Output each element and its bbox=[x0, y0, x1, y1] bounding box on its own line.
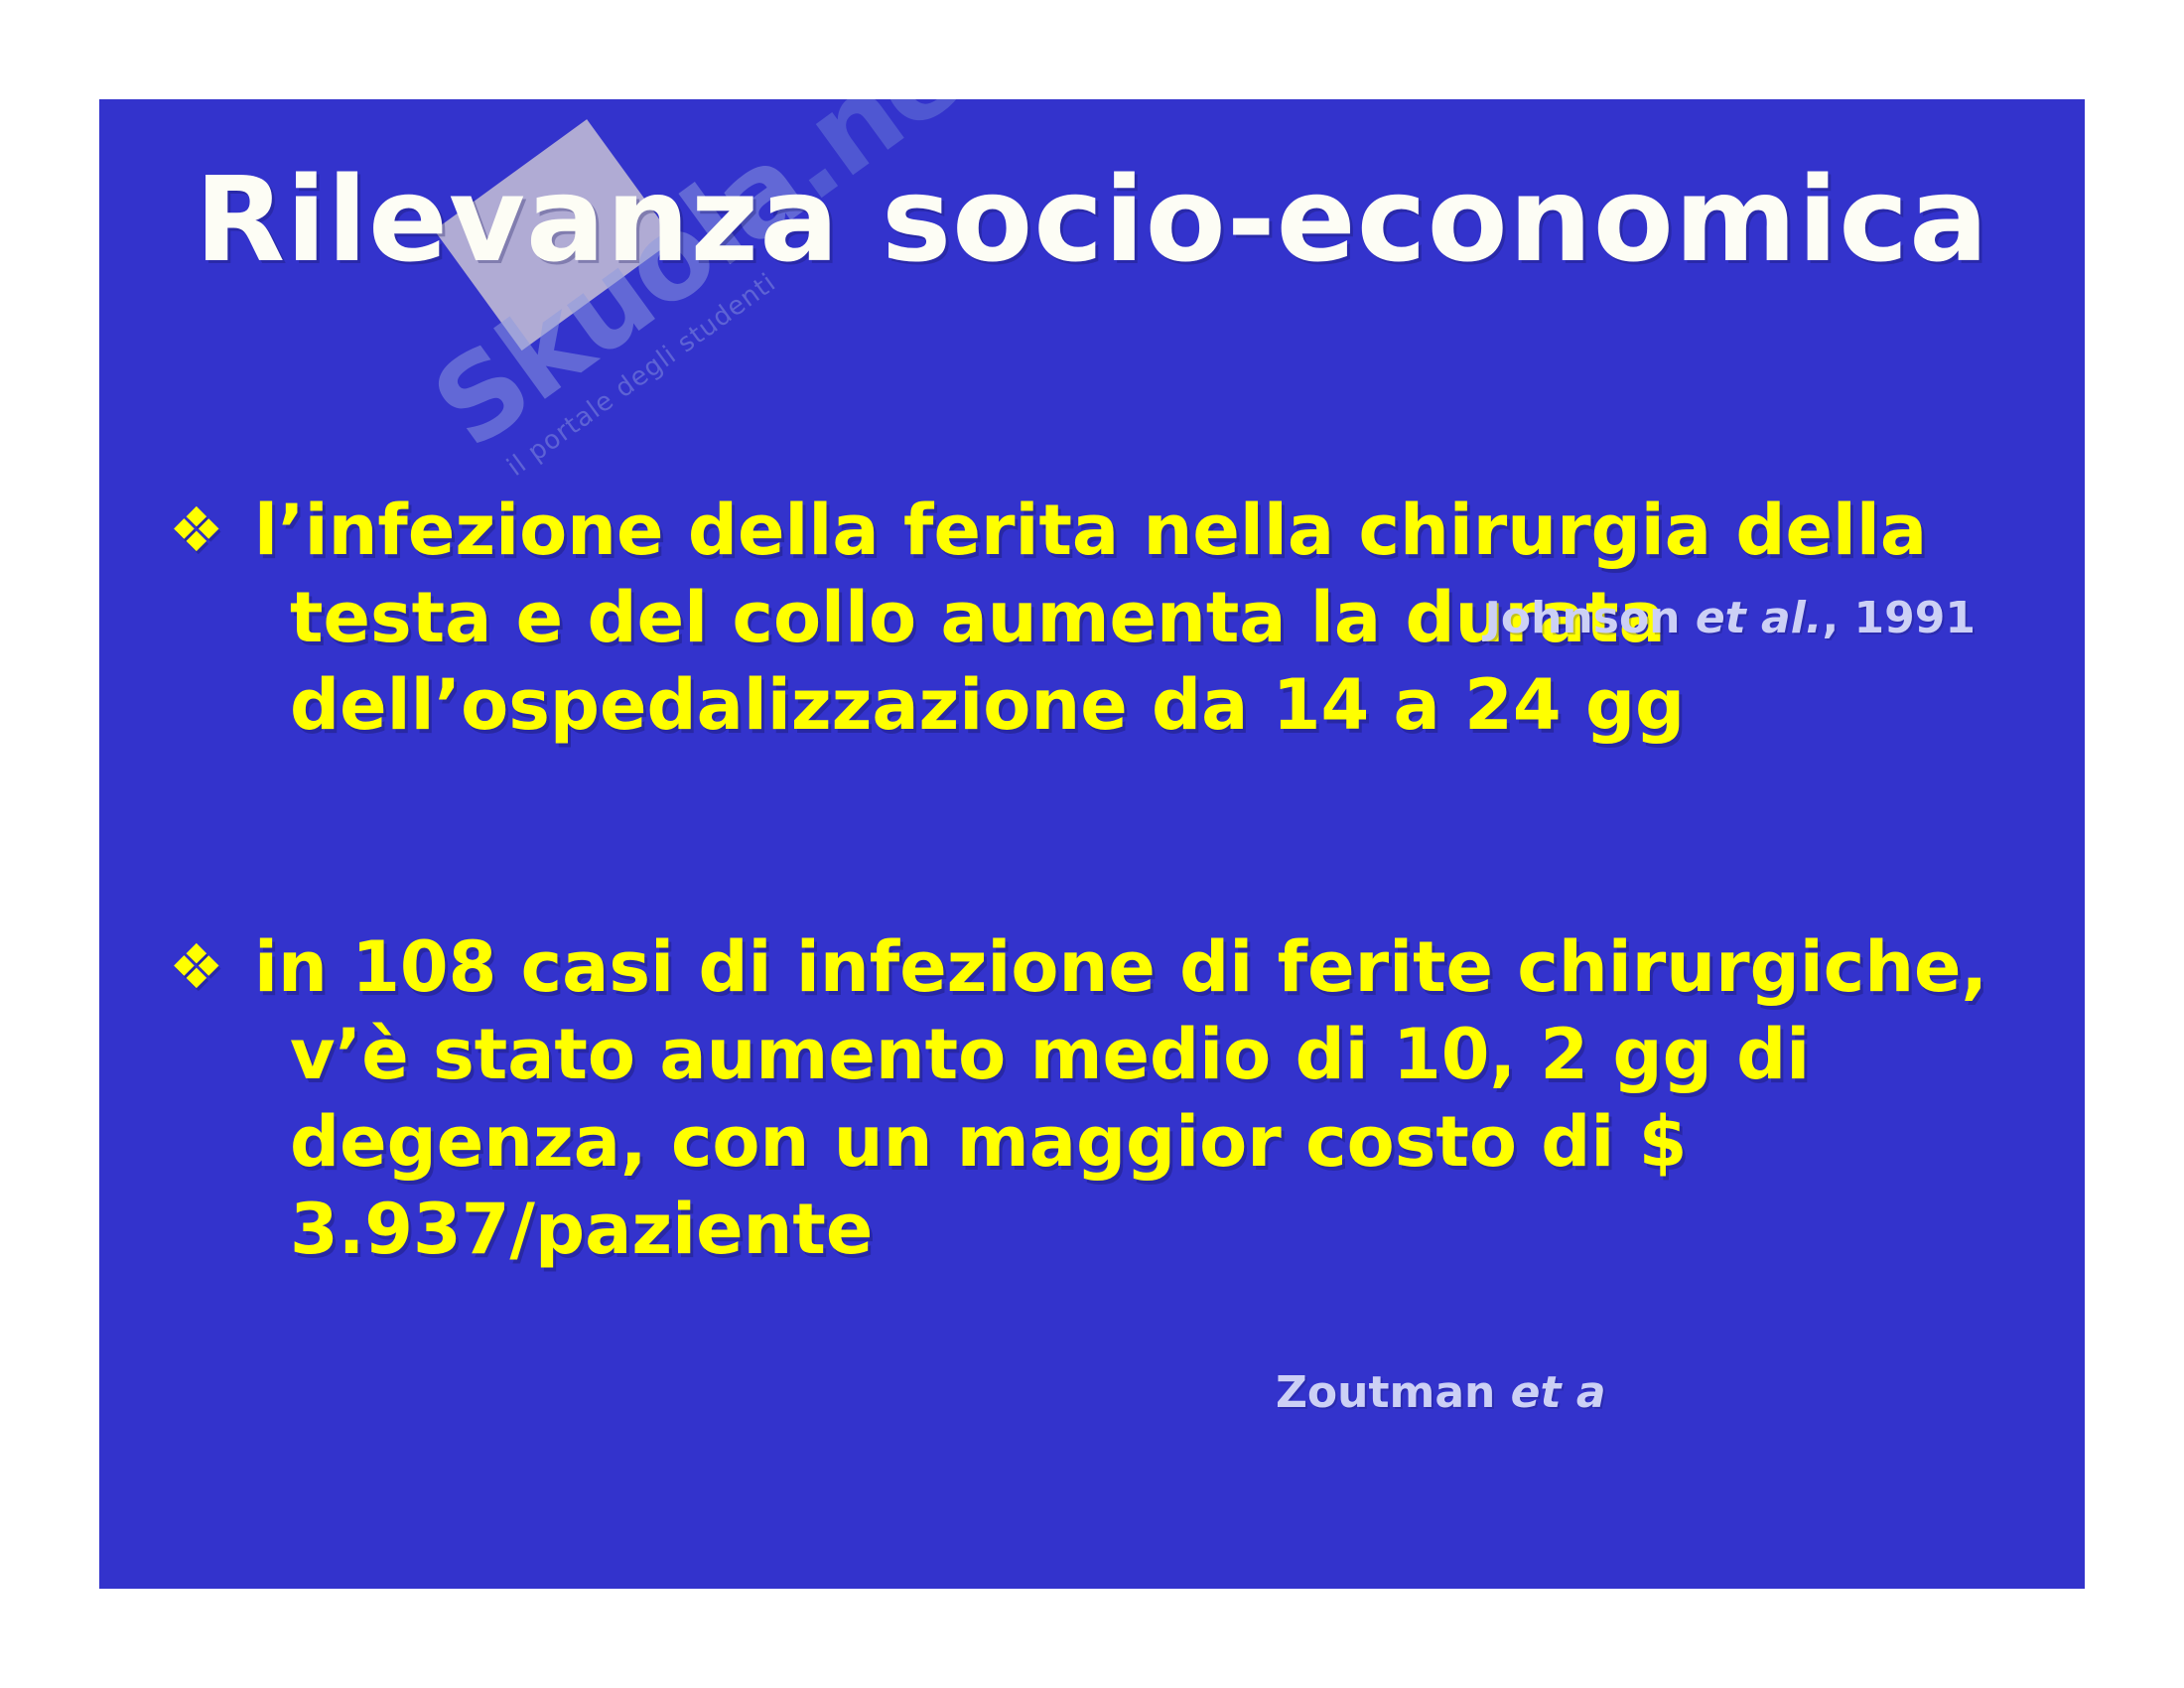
citation-zoutman: Zoutman et a bbox=[1276, 1365, 1606, 1421]
citation-etal: et a bbox=[1511, 1367, 1606, 1418]
slide-root: Skuola.net il portale degli studenti Ril… bbox=[0, 0, 2184, 1688]
page-title: Rilevanza socio-economica bbox=[99, 159, 2085, 282]
bullet-line: in 108 casi di infezione di ferite chiru… bbox=[254, 923, 2055, 1011]
citation-year: , 1991 bbox=[1823, 593, 1977, 643]
bullet-line: v’è stato aumento medio di 10, 2 gg di bbox=[254, 1011, 2055, 1098]
diamond-bullet-icon: ❖ bbox=[169, 487, 254, 574]
citation-johnson: Johnson et al., 1991 bbox=[1485, 591, 1977, 646]
bullet-line: l’infezione della ferita nella chirurgia… bbox=[254, 487, 2035, 574]
slide-content: Rilevanza socio-economica ❖ l’infezione … bbox=[99, 99, 2085, 1589]
diamond-bullet-icon: ❖ bbox=[169, 923, 254, 1011]
citation-author: Zoutman bbox=[1276, 1367, 1511, 1418]
bullet-line: degenza, con un maggior costo di $ bbox=[254, 1098, 2055, 1186]
bullet-text: in 108 casi di infezione di ferite chiru… bbox=[254, 923, 2055, 1273]
bullet-line: dell’ospedalizzazione da 14 a 24 gg bbox=[254, 661, 2035, 749]
citation-etal: et al. bbox=[1696, 593, 1823, 643]
slide-panel: Skuola.net il portale degli studenti Ril… bbox=[99, 99, 2085, 1589]
bullet-line: 3.937/paziente bbox=[254, 1186, 2055, 1273]
citation-author: Johnson bbox=[1485, 593, 1696, 643]
bullet-item: ❖ in 108 casi di infezione di ferite chi… bbox=[169, 923, 2055, 1273]
